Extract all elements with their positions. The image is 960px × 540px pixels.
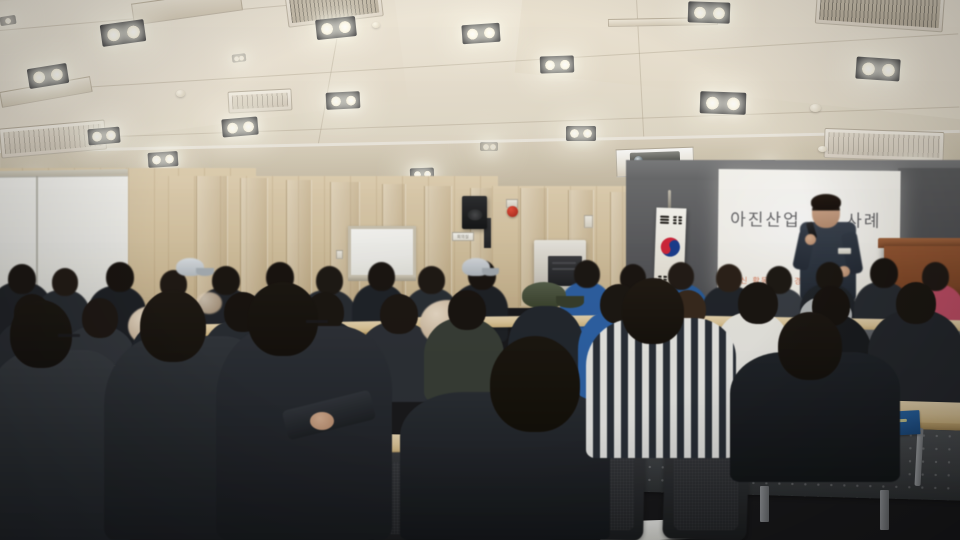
attendee-head-foreground <box>248 282 318 356</box>
attendee-head-foreground <box>490 336 580 432</box>
foreground-group <box>0 0 960 540</box>
eyeglasses <box>306 320 328 323</box>
attendee-head-foreground <box>778 312 842 380</box>
seminar-room-photo: 회의실 아진산업 사례 혁신 활동 추진 경과 <box>0 0 960 540</box>
attendee-hand <box>310 412 334 430</box>
eyeglasses <box>58 334 80 337</box>
attendee-head-foreground <box>140 290 206 362</box>
attendee-head-foreground <box>622 278 684 344</box>
chair-mesh-back <box>674 446 738 530</box>
